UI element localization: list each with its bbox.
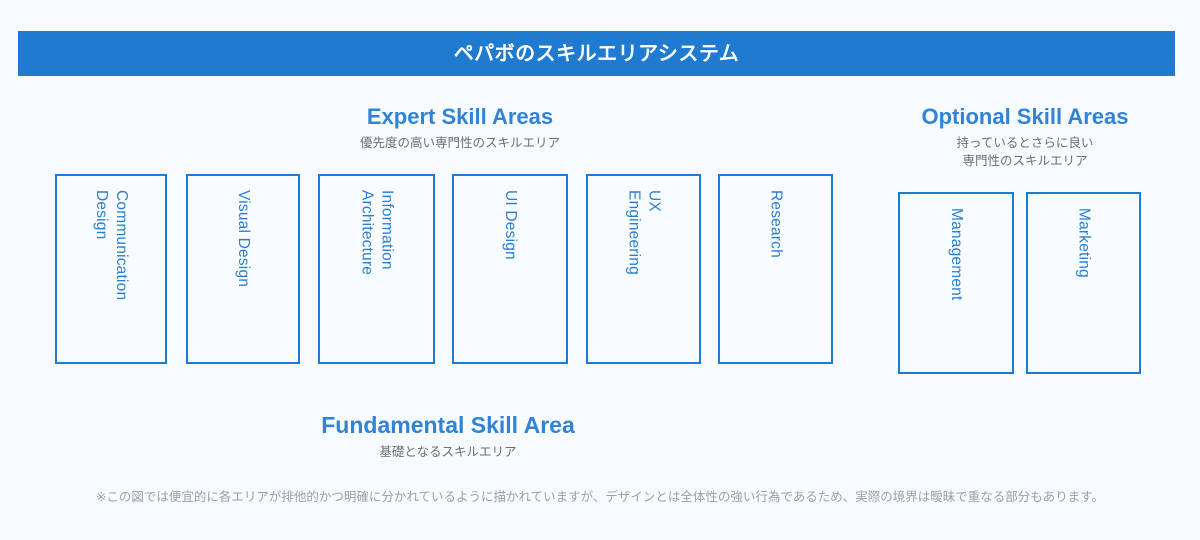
fundamental-group-subtitle: 基礎となるスキルエリア (278, 443, 618, 461)
skill-box-label: Research (766, 190, 786, 258)
expert-group-subtitle: 優先度の高い専門性のスキルエリア (290, 134, 630, 152)
skill-box-visual-design[interactable]: Visual Design (186, 174, 300, 364)
fundamental-group-title: Fundamental Skill Area (278, 411, 618, 440)
skill-box-marketing[interactable]: Marketing (1026, 192, 1141, 374)
page-title: ペパボのスキルエリアシステム (454, 44, 740, 64)
skill-box-label: Visual Design (233, 190, 253, 287)
skill-box-label: UI Design (500, 190, 520, 260)
skill-box-ui-design[interactable]: UI Design (452, 174, 568, 364)
skill-box-label: Information Architecture (357, 190, 397, 275)
skill-box-communication-design[interactable]: Communication Design (55, 174, 167, 364)
fundamental-group-heading: Fundamental Skill Area 基礎となるスキルエリア (278, 411, 618, 461)
expert-group-heading: Expert Skill Areas 優先度の高い専門性のスキルエリア (290, 103, 630, 152)
header-banner: ペパボのスキルエリアシステム (18, 31, 1175, 76)
expert-group-title: Expert Skill Areas (290, 103, 630, 131)
footnote-text: ※この図では便宜的に各エリアが排他的かつ明確に分かれているように描かれていますが… (0, 488, 1200, 507)
optional-group-subtitle: 持っているとさらに良い 専門性のスキルエリア (885, 134, 1165, 170)
skill-box-label: Marketing (1074, 208, 1094, 278)
skill-box-management[interactable]: Management (898, 192, 1014, 374)
skill-box-label: Management (946, 208, 966, 300)
skill-box-label: Communication Design (91, 190, 131, 300)
skill-box-research[interactable]: Research (718, 174, 833, 364)
skill-box-ux-engineering[interactable]: UX Engineering (586, 174, 701, 364)
skill-box-label: UX Engineering (624, 190, 664, 275)
skill-box-information-architecture[interactable]: Information Architecture (318, 174, 435, 364)
optional-group-heading: Optional Skill Areas 持っているとさらに良い 専門性のスキル… (885, 103, 1165, 170)
optional-group-title: Optional Skill Areas (885, 103, 1165, 131)
